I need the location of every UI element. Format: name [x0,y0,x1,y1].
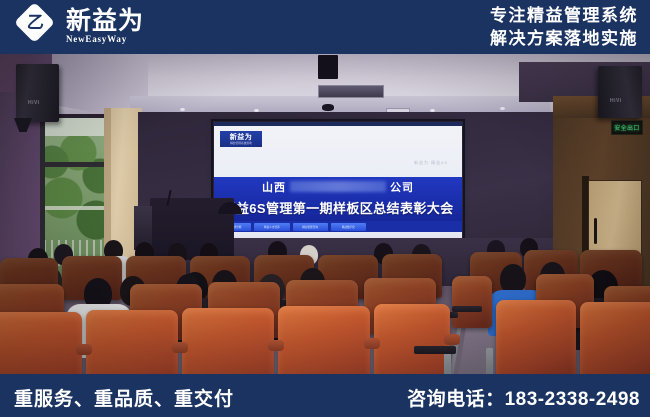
projection-screen: 新益为 精益管理系统落地 新益为 精益6S 山西 公司 精益6S管理第一期样板区… [214,122,462,242]
screen-logo-en: 精益管理系统落地 [230,141,252,145]
brand-logo: 乙 新益为 NewEasyWay [18,6,144,46]
seat-writing-tray [452,306,482,312]
projector-housing [318,55,338,79]
speaker-right-brand: HiVi [610,98,622,104]
logo-swirl-glyph: 乙 [26,16,43,30]
ceiling-vent-icon [318,85,384,98]
top-banner: 乙 新益为 NewEasyWay 专注精益管理系统 解决方案落地实施 [0,0,650,54]
footer-contact: 咨询电话：183-2338-2498 [407,384,640,411]
emergency-exit-sign: 安全出口 [611,120,643,135]
screen-top-bar [214,122,462,126]
screen-logo-cn: 新益为 [230,134,253,141]
projector-lens-icon [322,104,334,111]
bottom-banner: 重服务、重品质、重交付 咨询电话：183-2338-2498 [0,374,650,417]
screen-tabs: 企业现状诊断 精益人才培养 精益管理咨询 精益数字化 [216,222,366,231]
screen-title-band: 山西 公司 精益6S管理第一期样板区总结表彰大会 [214,177,462,221]
screen-watermark: 新益为 精益6S [414,160,448,166]
seat-writing-tray [414,346,456,354]
tagline-line-1: 专注精益管理系统 [490,4,638,27]
brand-logo-text: 新益为 NewEasyWay [66,8,144,45]
window-foliage [44,136,110,256]
door-handle [594,218,597,244]
seat-armrest [76,344,92,355]
screenshot-root: 新益为 精益管理系统落地 新益为 精益6S 山西 公司 精益6S管理第一期样板区… [0,0,650,417]
auditorium-seat [496,300,576,380]
screen-title-redacted-company [290,181,386,192]
tagline-line-2: 解决方案落地实施 [490,27,638,50]
header-tagline: 专注精益管理系统 解决方案落地实施 [490,4,638,50]
screen-title-line1: 山西 公司 [214,178,462,195]
brand-name-cn: 新益为 [66,8,144,34]
brand-name-en: NewEasyWay [66,34,144,45]
window-mullion [44,162,110,167]
downlight-icon [500,107,505,110]
auditorium-seat [452,276,492,328]
seat-armrest [444,334,460,345]
screen-title-main: 精益6S管理第一期样板区总结表彰大会 [214,196,462,218]
seat-armrest [172,342,188,353]
speaker-left-brand: HiVi [28,100,40,106]
screen-title-suffix: 公司 [390,179,414,195]
screen-logo: 新益为 精益管理系统落地 [220,131,262,147]
diamond-swirl-icon: 乙 [18,6,58,46]
screen-tab: 精益管理咨询 [293,223,328,231]
exit-sign-text: 安全出口 [614,123,640,132]
screen-title-prefix: 山西 [262,179,286,195]
speaker-right: HiVi [598,66,642,118]
seat-armrest [268,340,284,351]
downlight-icon [180,108,185,111]
speaker-left: HiVi [16,64,59,122]
footer-slogan: 重服务、重品质、重交付 [14,384,234,411]
window-rail [44,206,110,210]
stage-plant [216,200,244,214]
conference-room-photo: 新益为 精益管理系统落地 新益为 精益6S 山西 公司 精益6S管理第一期样板区… [0,0,650,417]
seat-armrest [364,338,380,349]
screen-tab: 精益人才培养 [254,223,289,231]
screen-tab: 精益数字化 [331,223,366,231]
